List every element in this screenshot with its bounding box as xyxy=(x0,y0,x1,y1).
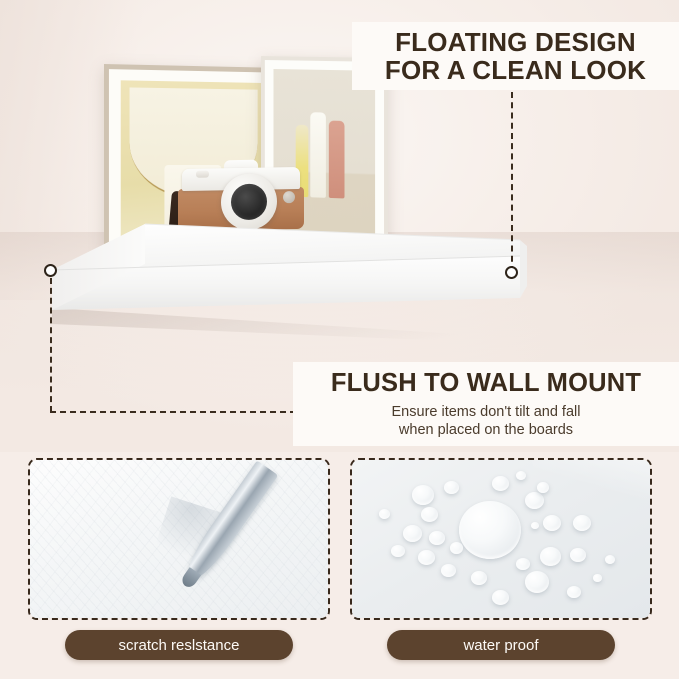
water-droplet xyxy=(471,571,487,585)
callout-2-subtitle-line1: Ensure items don't tilt and fall xyxy=(392,403,581,421)
callout-floating-design: FLOATING DESIGN FOR A CLEAN LOOK xyxy=(352,22,679,90)
water-droplet xyxy=(540,547,561,566)
badge-water-proof-label: water proof xyxy=(463,637,538,654)
marker-right-shelf xyxy=(505,266,518,279)
water-droplet xyxy=(403,525,422,542)
marker-left-shelf xyxy=(44,264,57,277)
bottle-white xyxy=(311,112,326,198)
water-droplet xyxy=(573,515,591,531)
water-droplet xyxy=(516,471,526,480)
water-droplet xyxy=(444,481,459,494)
water-droplet xyxy=(391,545,405,557)
badge-scratch-resistance[interactable]: scratch reslstance xyxy=(65,630,293,660)
water-droplet xyxy=(492,590,509,605)
water-droplet xyxy=(418,550,435,565)
water-droplet xyxy=(421,507,438,522)
water-droplet xyxy=(516,558,530,570)
connector-line-left-vertical xyxy=(50,278,52,412)
infographic-stage: FLOATING DESIGN FOR A CLEAN LOOK FLUSH T… xyxy=(0,0,679,679)
callout-1-heading-line1: FLOATING DESIGN xyxy=(395,28,636,56)
callout-2-heading: FLUSH TO WALL MOUNT xyxy=(331,370,641,398)
water-droplet xyxy=(531,522,539,529)
water-droplet xyxy=(525,492,544,509)
connector-line-right-vertical xyxy=(511,92,513,272)
feature-tile-water-proof xyxy=(350,458,652,620)
bottle-terracotta xyxy=(329,121,344,199)
badge-scratch-resistance-label: scratch reslstance xyxy=(119,637,240,654)
camera-shutter-button xyxy=(196,171,209,178)
water-droplet xyxy=(537,482,549,493)
callout-2-subtitle: Ensure items don't tilt and fall when pl… xyxy=(392,403,581,440)
water-droplet xyxy=(492,476,509,491)
badge-water-proof[interactable]: water proof xyxy=(387,630,615,660)
water-droplet xyxy=(567,586,581,598)
water-droplet xyxy=(379,509,390,519)
callout-2-subtitle-line2: when placed on the boards xyxy=(392,421,581,439)
water-droplet xyxy=(570,548,586,562)
callout-flush-mount: FLUSH TO WALL MOUNT Ensure items don't t… xyxy=(293,362,679,446)
water-droplet xyxy=(543,515,561,531)
feature-tile-scratch-resistance xyxy=(28,458,330,620)
water-droplet xyxy=(412,485,434,505)
connector-line-left-horizontal xyxy=(50,411,296,413)
callout-1-heading-line2: FOR A CLEAN LOOK xyxy=(385,56,646,84)
water-droplet-large xyxy=(459,501,521,559)
water-droplet xyxy=(525,571,549,593)
